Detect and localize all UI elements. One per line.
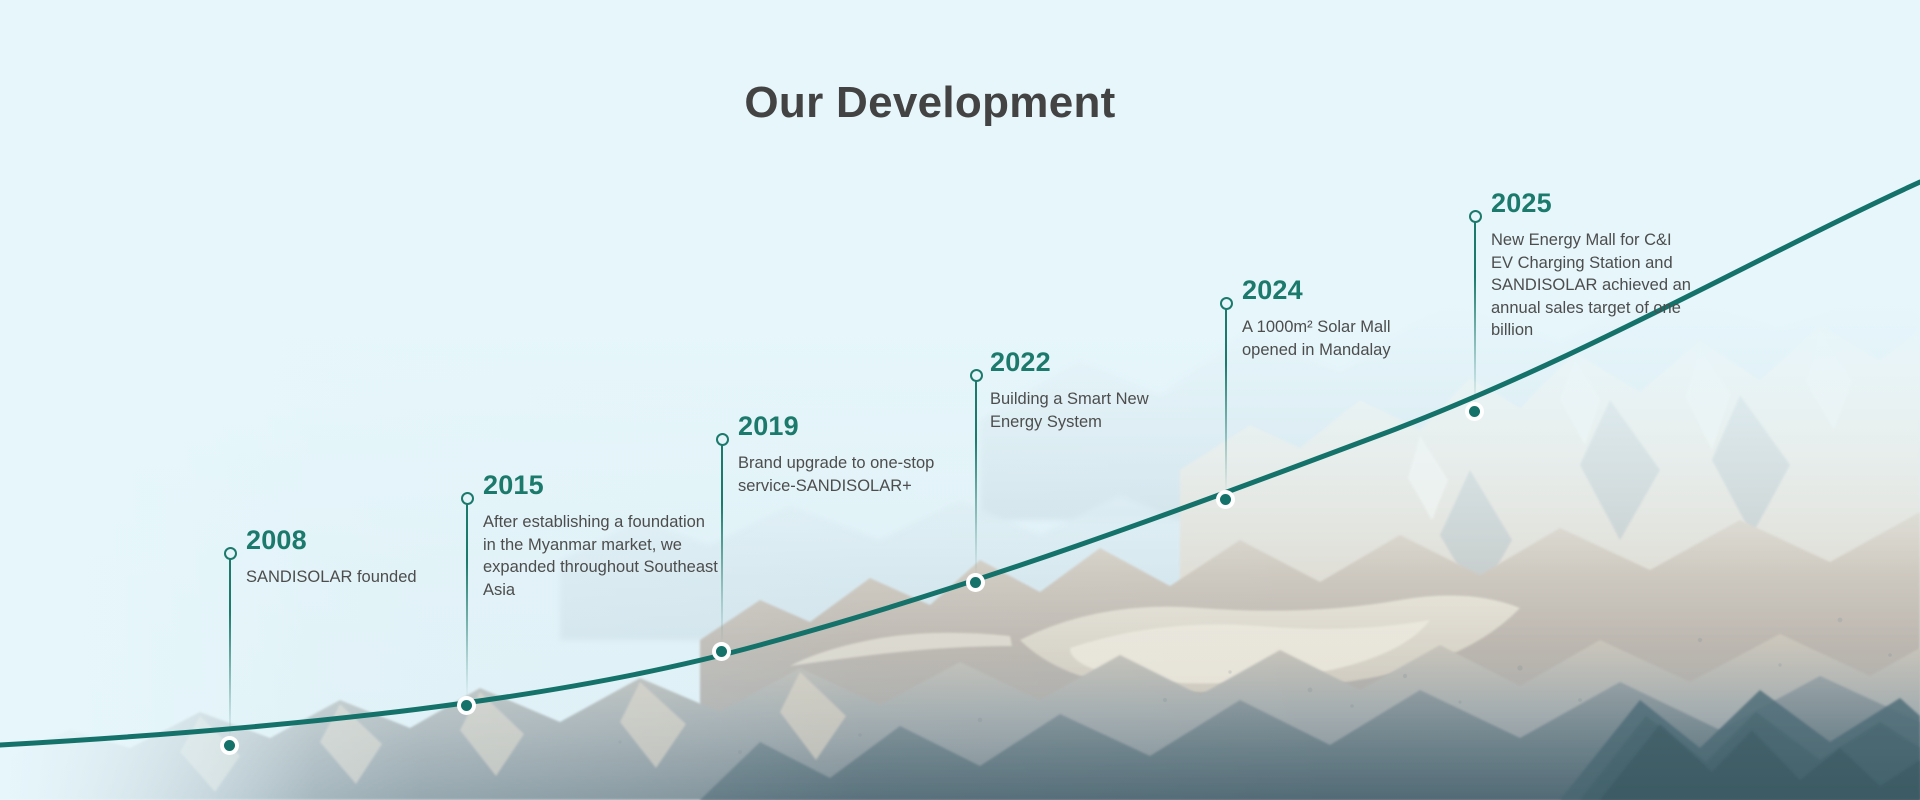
curve-marker-dot[interactable] [457, 696, 476, 715]
milestone-ring-icon [1220, 297, 1233, 310]
curve-marker-dot-core [1220, 494, 1231, 505]
curve-marker-dot-core [461, 700, 472, 711]
milestone-description: New Energy Mall for C&I EV Charging Stat… [1491, 229, 1691, 342]
milestone-connector-line [1225, 308, 1227, 493]
curve-marker-dot-core [224, 740, 235, 751]
milestone-text-block: 2015After establishing a foundation in t… [483, 472, 718, 601]
milestone-year: 2025 [1491, 190, 1691, 217]
curve-marker-dot[interactable] [1465, 402, 1484, 421]
curve-marker-dot[interactable] [966, 573, 985, 592]
milestone-text-block: 2025New Energy Mall for C&I EV Charging … [1491, 190, 1691, 342]
milestone-description: Brand upgrade to one-stop service-SANDIS… [738, 452, 968, 497]
milestone-ring-icon [224, 547, 237, 560]
milestone-ring-icon [716, 433, 729, 446]
milestone-connector-line [229, 558, 231, 738]
development-timeline-page: Our Development 2008SANDISOLAR founded20… [0, 0, 1920, 800]
curve-marker-dot-core [716, 646, 727, 657]
curve-marker-dot-core [970, 577, 981, 588]
milestone-description: After establishing a foundation in the M… [483, 511, 718, 601]
milestone-year: 2015 [483, 472, 718, 499]
curve-marker-dot[interactable] [712, 642, 731, 661]
milestone-year: 2022 [990, 349, 1190, 376]
curve-marker-dot[interactable] [220, 736, 239, 755]
milestone-ring-icon [970, 369, 983, 382]
milestone-text-block: 2024A 1000m² Solar Mall opened in Mandal… [1242, 277, 1442, 361]
curve-marker-dot[interactable] [1216, 490, 1235, 509]
milestone-year: 2024 [1242, 277, 1442, 304]
milestone-connector-line [721, 444, 723, 644]
milestone-description: Building a Smart New Energy System [990, 388, 1190, 433]
milestone-description: A 1000m² Solar Mall opened in Mandalay [1242, 316, 1442, 361]
milestone-year: 2019 [738, 413, 968, 440]
milestone-ring-icon [1469, 210, 1482, 223]
curve-marker-dot-core [1469, 406, 1480, 417]
milestone-connector-line [1474, 221, 1476, 405]
milestone-text-block: 2019Brand upgrade to one-stop service-SA… [738, 413, 968, 497]
milestone-connector-line [466, 503, 468, 699]
milestone-text-block: 2022Building a Smart New Energy System [990, 349, 1190, 433]
milestone-connector-line [975, 380, 977, 576]
milestone-ring-icon [461, 492, 474, 505]
page-title: Our Development [0, 78, 1920, 128]
